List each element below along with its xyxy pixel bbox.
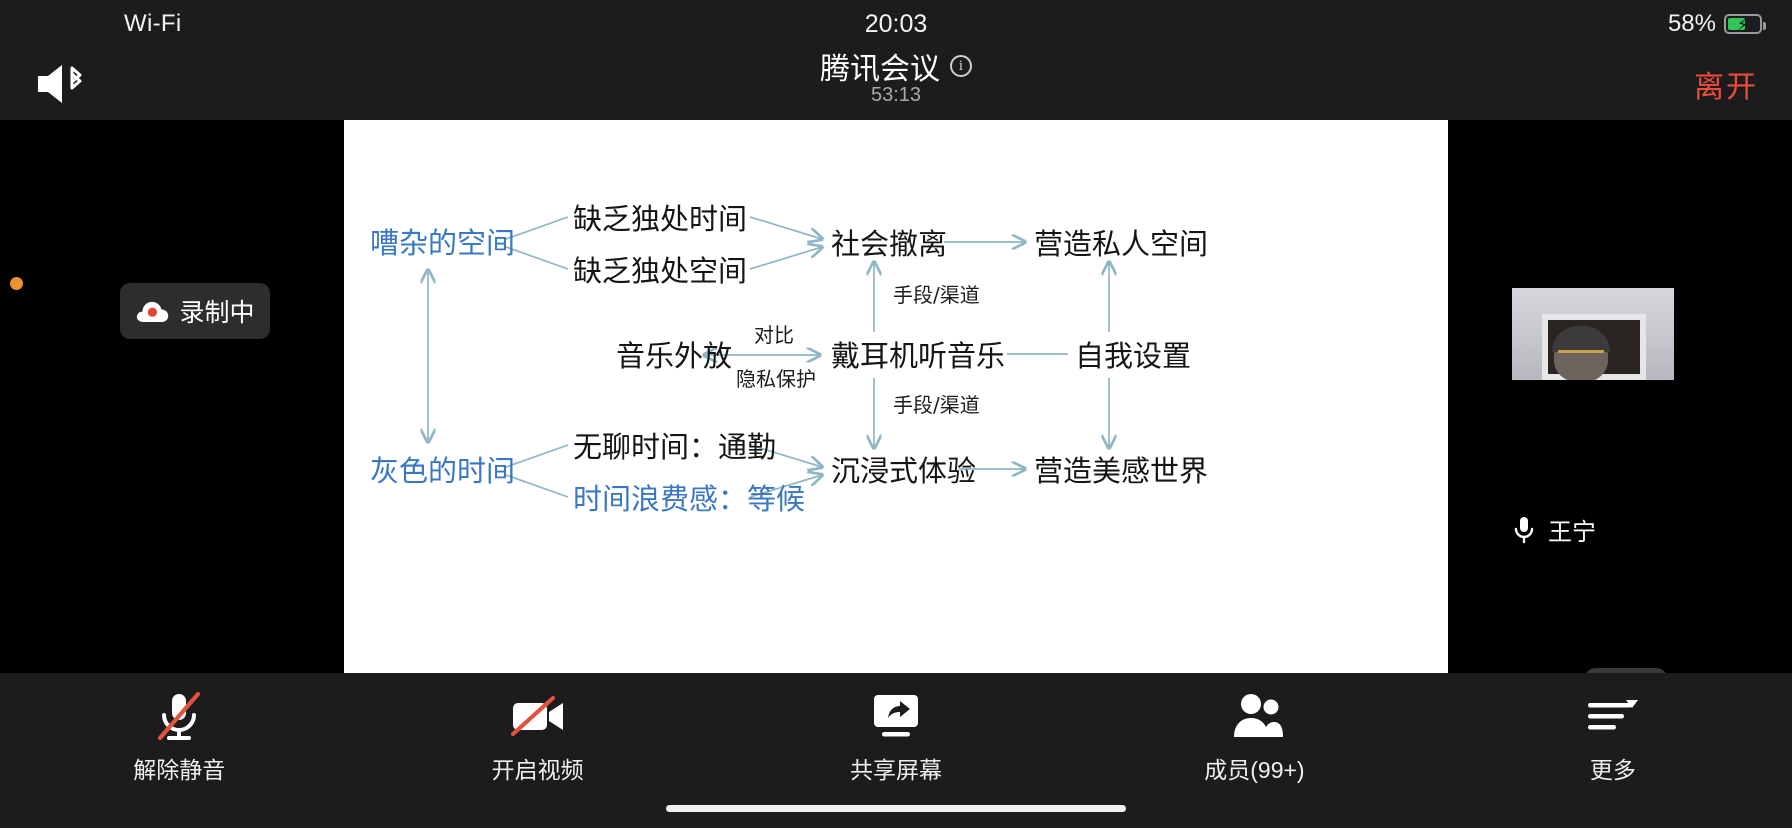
share-screen-icon bbox=[868, 687, 924, 745]
camera-off-icon bbox=[507, 687, 569, 745]
meeting-title-row: 腾讯会议 i bbox=[0, 44, 1792, 88]
participant-name-row: 王宁 bbox=[1512, 512, 1596, 547]
battery-percent-label: 58% bbox=[1668, 10, 1716, 38]
diagram-node: 缺乏独处空间 bbox=[573, 257, 747, 286]
leave-button[interactable]: 离开 bbox=[1694, 62, 1758, 106]
more-menu-icon bbox=[1584, 687, 1642, 745]
diagram-node: 沉浸式体验 bbox=[831, 457, 976, 486]
cloud-record-icon bbox=[135, 298, 169, 324]
toolbar-item-unmute[interactable]: 解除静音 bbox=[0, 673, 358, 788]
toolbar-label-participants: 成员(99+) bbox=[1204, 751, 1304, 785]
recording-label: 录制中 bbox=[179, 293, 254, 329]
toolbar-label-unmute: 解除静音 bbox=[133, 751, 225, 785]
microphone-muted-icon bbox=[152, 687, 206, 745]
toolbar-label-start-video: 开启视频 bbox=[492, 751, 584, 785]
home-indicator bbox=[666, 805, 1126, 812]
self-video-tile[interactable] bbox=[1512, 288, 1674, 380]
diagram-node: 营造美感世界 bbox=[1034, 457, 1208, 486]
recording-badge[interactable]: 录制中 bbox=[120, 283, 270, 339]
recording-status-dot bbox=[10, 277, 23, 290]
toolbar-label-more: 更多 bbox=[1590, 751, 1636, 785]
toolbar-item-more[interactable]: 更多 bbox=[1434, 673, 1792, 788]
diagram-node: 时间浪费感：等候 bbox=[573, 485, 805, 514]
diagram-node: 灰色的时间 bbox=[370, 457, 515, 486]
microphone-icon bbox=[1512, 514, 1536, 546]
status-battery-group: 58% ⚡ bbox=[1668, 10, 1762, 38]
meeting-timer: 53:13 bbox=[0, 84, 1792, 107]
status-clock: 20:03 bbox=[0, 10, 1792, 39]
diagram-node: 无聊时间：通勤 bbox=[573, 433, 776, 462]
diagram-node: 缺乏独处时间 bbox=[573, 205, 747, 234]
toolbar-item-start-video[interactable]: 开启视频 bbox=[358, 673, 716, 788]
lightning-bolt-icon: ⚡ bbox=[1737, 16, 1748, 36]
diagram-edge-label: 手段/渠道 bbox=[893, 395, 980, 415]
battery-icon: ⚡ bbox=[1724, 14, 1762, 34]
participant-name-label: 王宁 bbox=[1548, 512, 1596, 547]
diagram-node: 戴耳机听音乐 bbox=[831, 342, 1005, 371]
diagram-edge-label: 对比 bbox=[754, 325, 794, 345]
diagram-node: 音乐外放 bbox=[616, 342, 732, 371]
meeting-toolbar: 解除静音 开启视频 共享屏幕 bbox=[0, 673, 1792, 828]
page-title: 腾讯会议 bbox=[820, 44, 940, 88]
diagram-node: 自我设置 bbox=[1075, 342, 1191, 371]
mindmap-diagram: 嘈杂的空间缺乏独处时间缺乏独处空间社会撤离营造私人空间音乐外放戴耳机听音乐自我设… bbox=[344, 120, 1448, 673]
toolbar-label-share-screen: 共享屏幕 bbox=[850, 751, 942, 785]
diagram-edge-label: 手段/渠道 bbox=[893, 285, 980, 305]
diagram-node: 社会撤离 bbox=[831, 230, 947, 259]
participants-icon bbox=[1224, 687, 1284, 745]
status-bar: Wi-Fi 20:03 58% ⚡ bbox=[0, 0, 1792, 48]
diagram-node: 嘈杂的空间 bbox=[370, 229, 515, 258]
diagram-node: 营造私人空间 bbox=[1034, 230, 1208, 259]
diagram-edge-label: 隐私保护 bbox=[736, 369, 816, 389]
info-icon[interactable]: i bbox=[950, 55, 972, 77]
shared-screen-content[interactable]: 嘈杂的空间缺乏独处时间缺乏独处空间社会撤离营造私人空间音乐外放戴耳机听音乐自我设… bbox=[344, 120, 1448, 673]
meeting-stage: 录制中 bbox=[0, 120, 1792, 673]
toolbar-item-share-screen[interactable]: 共享屏幕 bbox=[717, 673, 1075, 788]
meeting-header: 腾讯会议 i 53:13 离开 bbox=[0, 48, 1792, 120]
toolbar-item-participants[interactable]: 成员(99+) bbox=[1075, 673, 1433, 788]
